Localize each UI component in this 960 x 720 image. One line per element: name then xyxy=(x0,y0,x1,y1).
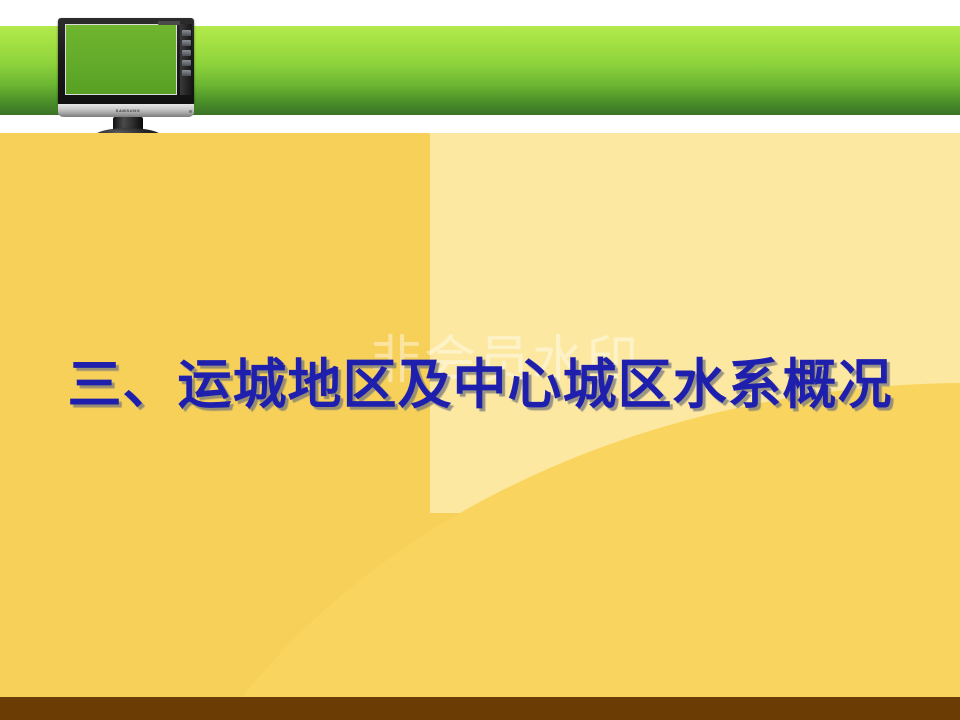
monitor-button-4-icon xyxy=(182,60,191,66)
monitor-button-5-icon xyxy=(182,70,191,76)
page-title: 三、运城地区及中心城区水系概况 xyxy=(0,340,960,419)
monitor-model-label xyxy=(158,21,180,25)
monitor-bezel xyxy=(58,18,194,104)
slide-body xyxy=(0,133,960,720)
monitor-brand-label: SAMSUNG xyxy=(116,108,141,113)
presentation-slide: SAMSUNG 非会员水印 三、运城地区及中心城区水系概况 xyxy=(0,0,960,720)
footer-bar xyxy=(0,697,960,720)
monitor-image: SAMSUNG xyxy=(58,18,198,138)
monitor-button-2-icon xyxy=(182,40,191,46)
monitor-screen xyxy=(65,24,177,95)
monitor-power-led-icon xyxy=(189,110,192,113)
monitor-button-1-icon xyxy=(182,30,191,36)
monitor-button-3-icon xyxy=(182,50,191,56)
